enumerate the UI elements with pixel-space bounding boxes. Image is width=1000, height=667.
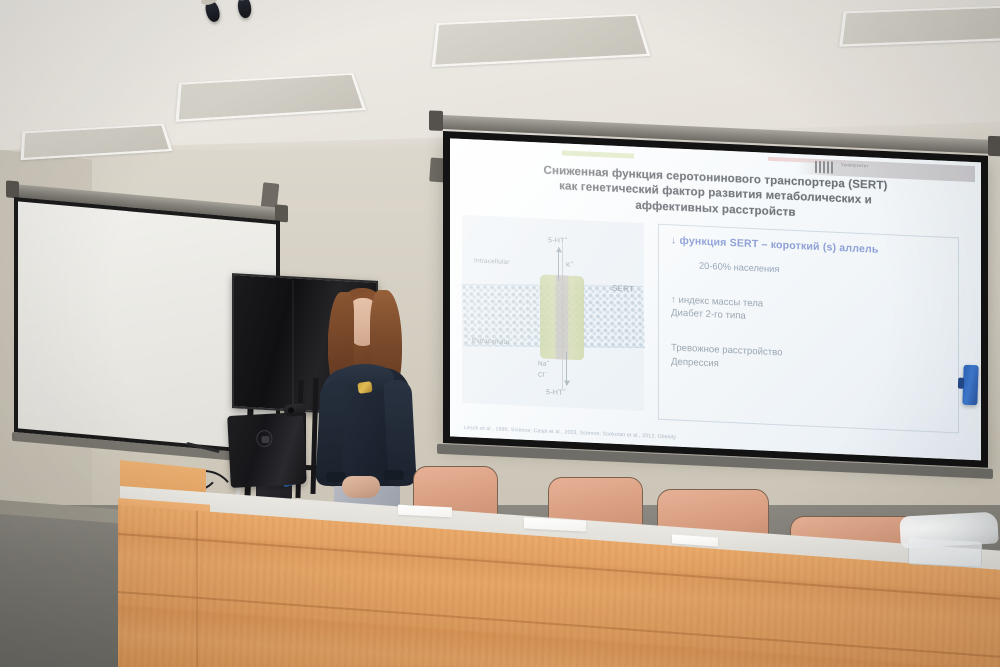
institution-logo-text: Университет — [841, 162, 869, 168]
diagram-label-serotonin-top: 5-HT+ — [548, 235, 568, 245]
tv-panel-seam — [292, 280, 294, 411]
sert-channel-pore — [556, 275, 568, 360]
diagram-label-chloride: Cl− — [538, 369, 547, 379]
desk-vertical-seam — [196, 511, 198, 667]
podium-monitor[interactable] — [227, 412, 307, 488]
diagram-label-serotonin-bottom: 5-HT+ — [546, 387, 566, 397]
presenter-pendant — [357, 381, 372, 394]
slide-text-box: ↓ функция SERT – короткий (s) аллель 20-… — [658, 224, 959, 434]
monitor-brand-logo-icon — [256, 430, 273, 448]
slide-citation-footer: Lesch et al., 1996, Science; Caspi et al… — [464, 425, 676, 441]
lecture-room-photo: Университет Сниженная функция серотонино… — [0, 0, 1000, 667]
diagram-label-intracellular: Intracellular — [474, 257, 510, 266]
diagram-label-potassium: K+ — [566, 259, 574, 269]
projected-slide: Университет Сниженная функция серотонино… — [450, 138, 981, 460]
main-screen-frame: Университет Сниженная функция серотонино… — [443, 131, 988, 468]
presenter-hands — [342, 476, 380, 498]
main-projection-screen[interactable]: Университет Сниженная функция серотонино… — [443, 131, 988, 468]
diagram-label-sert: SERT — [612, 284, 634, 294]
arrow-up-icon — [558, 247, 559, 281]
screen-roller-cap-left — [6, 180, 19, 198]
presenter — [312, 286, 422, 514]
main-screen-roller-cap-right — [988, 136, 1000, 157]
arrow-down-icon — [566, 351, 567, 385]
diagram-label-sodium: Na+ — [538, 358, 549, 368]
main-screen-roller-cap-left — [429, 110, 443, 131]
slide-affective-group: Тревожное расстройство Депрессия — [671, 342, 946, 381]
blue-marker-holder[interactable] — [962, 365, 978, 405]
plastic-bag[interactable] — [899, 511, 999, 548]
slide-heading: ↓ функция SERT – короткий (s) аллель — [671, 234, 946, 258]
institution-logo-icon — [815, 161, 835, 174]
slide-metabolic-group: ↑ индекс массы тела Диабет 2-го типа — [671, 293, 946, 332]
presenter-left-arm — [315, 381, 346, 486]
slide-body: 5-HT+ K+ Intracellular Extracellular SER… — [458, 215, 973, 434]
sert-protein-icon — [540, 274, 584, 360]
presenter-right-cuff — [384, 470, 404, 480]
slide-accent-bar-green — [562, 150, 634, 158]
ceiling-light-panel-icon — [839, 5, 1000, 47]
sert-membrane-diagram: 5-HT+ K+ Intracellular Extracellular SER… — [462, 215, 644, 411]
slide-subpoint: 20-60% населения — [699, 261, 946, 282]
